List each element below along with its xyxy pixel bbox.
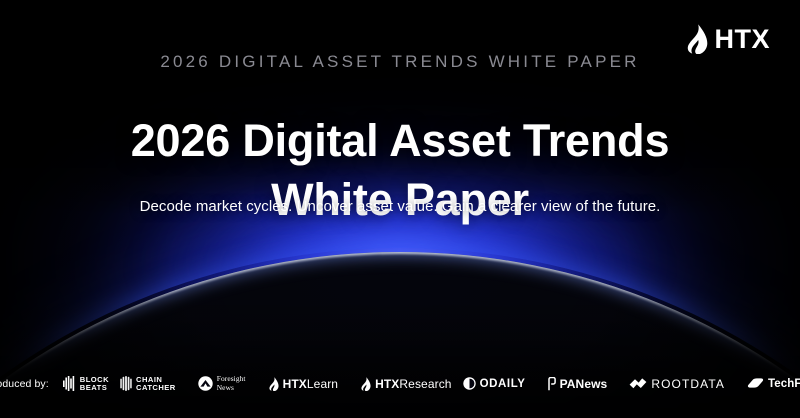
partner-logo-chaincatcher[interactable]: CHAIN CATCHER [120,376,176,392]
partner-name-htx-research: HTXResearch [375,377,451,391]
partner-logo-strip: Jointly Produced by: BLOCK BEATS [0,375,800,392]
partner-name-chaincatcher: CHAIN CATCHER [136,376,176,392]
partner-name-rootdata: ROOTDATA [651,377,725,391]
whitepaper-hero-poster: HTX 2026 DIGITAL ASSET TRENDS WHITE PAPE… [0,0,800,418]
partner-name-odaily: ODAILY [480,378,526,390]
htx-research-bold: HTX [375,377,399,391]
partner-logo-techflow[interactable]: TechFlow 深潮 [747,376,800,392]
partner-name-htx-learn: HTXLearn [283,377,339,391]
htx-research-light: Research [399,377,451,391]
headline-line-1: 2026 Digital Asset Trends [0,112,800,171]
panews-icon [548,377,556,391]
partner-name-foresight-news: Foresight News [217,375,246,392]
odaily-circle-icon [463,377,476,390]
blockbeats-line-2: BEATS [80,384,109,392]
partner-name-panews: PANews [560,377,608,391]
partner-name-blockbeats: BLOCK BEATS [80,376,109,392]
partner-logo-htx-learn[interactable]: HTXLearn [268,377,339,391]
partner-logo-foresight-news[interactable]: Foresight News [198,375,246,392]
htx-learn-light: Learn [307,377,338,391]
chain-pillars-icon [120,376,132,391]
jointly-produced-label: Jointly Produced by: [0,378,49,390]
partner-logo-panews[interactable]: PANews [548,377,608,391]
foresight-circle-icon [198,376,213,391]
flame-icon [268,377,279,391]
chaincatcher-line-2: CATCHER [136,384,176,392]
rootdata-arrow-icon [629,377,647,390]
foresight-line-2: News [217,384,246,392]
htx-logo-text: HTX [715,26,771,53]
flame-icon [685,24,708,54]
partner-name-techflow: TechFlow [768,378,800,390]
bars-icon [63,376,76,391]
htx-learn-bold: HTX [283,377,307,391]
htx-logo[interactable]: HTX [685,24,771,54]
partner-logo-odaily[interactable]: ODAILY [463,377,526,390]
subtitle-text: Decode market cycles. Uncover asset valu… [0,198,800,215]
background-bottom-fade [0,298,800,418]
flame-icon [360,377,371,391]
partner-logo-blockbeats[interactable]: BLOCK BEATS [63,376,109,392]
techflow-swoosh-icon [747,378,764,389]
partner-logo-htx-research[interactable]: HTXResearch [360,377,451,391]
eyebrow-text: 2026 DIGITAL ASSET TRENDS WHITE PAPER [0,52,800,72]
partner-logo-rootdata[interactable]: ROOTDATA [629,377,725,391]
